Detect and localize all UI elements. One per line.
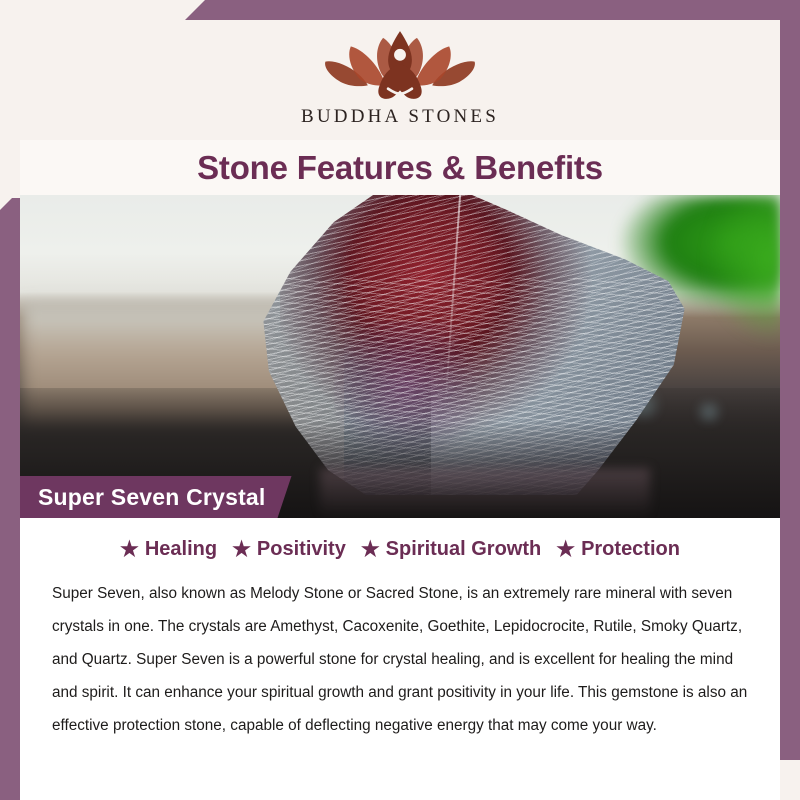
benefit-positivity: ★ Positivity (228, 538, 350, 561)
photo-surface-reflection (320, 468, 650, 518)
star-icon: ★ (361, 539, 380, 560)
star-icon: ★ (556, 539, 575, 560)
lotus-meditation-figure-icon (315, 26, 485, 104)
frame-band-left (0, 198, 20, 780)
benefit-label: Healing (145, 538, 217, 561)
benefits-row: ★ Healing ★ Positivity ★ Spiritual Growt… (20, 518, 780, 574)
benefit-label: Protection (581, 538, 680, 561)
star-icon: ★ (120, 539, 139, 560)
infographic-page: BUDDHA STONES Stone Features & Benefits (0, 0, 800, 800)
photo-canvas (20, 195, 780, 518)
title-banner: Stone Features & Benefits (20, 140, 780, 195)
benefit-label: Positivity (257, 538, 346, 561)
benefit-healing: ★ Healing (116, 538, 221, 561)
frame-band-top (185, 0, 800, 20)
frame-band-right (780, 0, 800, 760)
benefit-label: Spiritual Growth (386, 538, 542, 561)
hero-photo: Super Seven Crystal (20, 195, 780, 518)
description-text: Super Seven, also known as Melody Stone … (52, 578, 748, 742)
stone-name-label: Super Seven Crystal (38, 484, 266, 511)
benefit-spiritual-growth: ★ Spiritual Growth (357, 538, 545, 561)
photo-bokeh-spot (692, 400, 726, 424)
footer-spacer (20, 796, 780, 800)
content-column: BUDDHA STONES Stone Features & Benefits (20, 20, 780, 780)
stone-name-banner: Super Seven Crystal (20, 476, 292, 518)
page-title: Stone Features & Benefits (197, 149, 603, 187)
description-section: Super Seven, also known as Melody Stone … (20, 574, 780, 796)
brand-header: BUDDHA STONES (20, 20, 780, 140)
star-icon: ★ (232, 539, 251, 560)
brand-wordmark: BUDDHA STONES (301, 106, 499, 128)
benefit-protection: ★ Protection (552, 538, 684, 561)
